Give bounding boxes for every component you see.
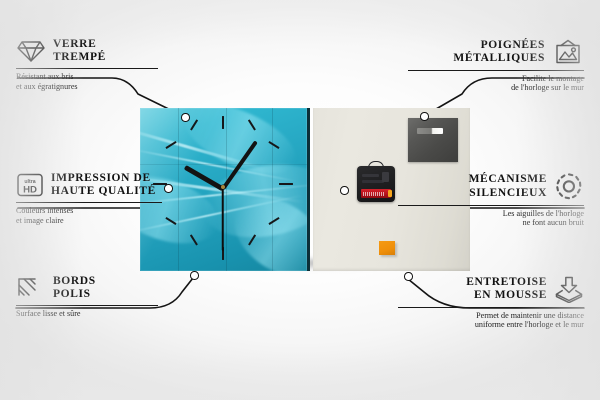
diamond-icon [16, 38, 46, 64]
feature-entretoise-en-mousse: ENTRETOISE EN MOUSSE Permet de maintenir… [398, 275, 584, 330]
feature-rule [398, 205, 584, 206]
feature-verre-trempe: VERRE TREMPÉ Résistant aux bris et aux é… [16, 38, 178, 92]
feature-description: Résistant aux bris et aux égratignures [16, 72, 178, 91]
connector-dot-verre-trempe [181, 113, 190, 122]
connector-dot-bords-polis [190, 271, 199, 280]
feature-bords-polis: BORDS POLIS Surface lisse et sûre [16, 275, 178, 319]
feature-title: MÉCANISME SILENCIEUX [469, 173, 547, 200]
clock-mechanism-box [357, 166, 395, 202]
feature-mecanisme-silencieux: MÉCANISME SILENCIEUX Les aiguilles de l'… [398, 172, 584, 228]
feature-rule [16, 68, 158, 69]
feature-description: Surface lisse et sûre [16, 309, 178, 319]
gear-icon [554, 172, 584, 201]
feature-description: Facilite le montage de l'horloge sur le … [408, 74, 584, 93]
feature-title: POIGNÉES MÉTALLIQUES [453, 39, 545, 66]
feature-description: Permet de maintenir une distance uniform… [398, 311, 584, 330]
infographic-canvas: VERRE TREMPÉ Résistant aux bris et aux é… [0, 0, 600, 400]
picture-frame-hanger-icon [552, 38, 584, 66]
feature-rule [16, 305, 158, 306]
connector-dot-mecanisme [340, 186, 349, 195]
feature-title: BORDS POLIS [53, 275, 96, 302]
foam-spacer-arrow-icon [554, 275, 584, 303]
feature-header: POIGNÉES MÉTALLIQUES [408, 38, 584, 66]
feature-header: ENTRETOISE EN MOUSSE [398, 275, 584, 303]
feature-header: ultra HD IMPRESSION DE HAUTE QUALITÉ [16, 172, 196, 199]
clock-hub [221, 185, 225, 189]
clock-tick [222, 116, 224, 129]
feature-title: ENTRETOISE EN MOUSSE [466, 276, 547, 303]
clock-tick [279, 183, 293, 185]
clock-second-hand [222, 188, 224, 250]
feature-header: VERRE TREMPÉ [16, 38, 178, 65]
feature-rule [16, 202, 162, 203]
feature-rule [408, 70, 584, 71]
feature-description: Les aiguilles de l'horloge ne font aucun… [398, 209, 584, 228]
feature-header: BORDS POLIS [16, 275, 178, 302]
feature-impression-haute-qualite: ultra HD IMPRESSION DE HAUTE QUALITÉ Cou… [16, 172, 196, 226]
feature-poignees-metalliques: POIGNÉES MÉTALLIQUES Facilite le montage… [408, 38, 584, 93]
metal-hanger-plate [408, 118, 458, 162]
ultra-hd-icon: ultra HD [16, 172, 44, 198]
foam-spacer [379, 241, 395, 255]
feature-header: MÉCANISME SILENCIEUX [398, 172, 584, 201]
feature-rule [398, 307, 584, 308]
connector-dot-poignees [420, 112, 429, 121]
svg-text:HD: HD [23, 185, 37, 196]
feature-description: Couleurs intenses et image claire [16, 206, 196, 225]
feature-title: VERRE TREMPÉ [53, 38, 106, 65]
feature-title: IMPRESSION DE HAUTE QUALITÉ [51, 172, 156, 199]
polished-edges-icon [16, 276, 46, 301]
battery [361, 189, 391, 198]
